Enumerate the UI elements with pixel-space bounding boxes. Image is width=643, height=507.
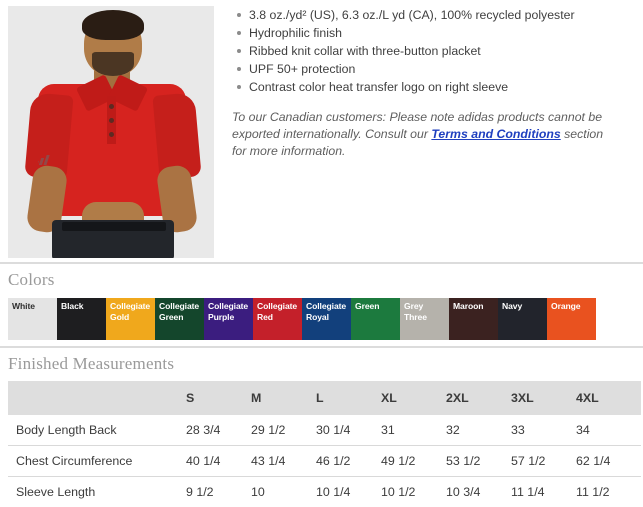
color-swatch-label: Maroon [453, 301, 497, 312]
cell-value: 33 [511, 415, 576, 446]
model-hair [82, 10, 144, 40]
feature-list: 3.8 oz./yd² (US), 6.3 oz./L yd (CA), 100… [230, 6, 637, 96]
feature-item: Ribbed knit collar with three-button pla… [230, 42, 637, 60]
cell-value: 43 1/4 [251, 446, 316, 477]
feature-item: Contrast color heat transfer logo on rig… [230, 78, 637, 96]
color-swatch-label: Collegiate Green [159, 301, 203, 322]
color-swatch-orange[interactable]: Orange [547, 298, 596, 340]
canadian-customers-note: To our Canadian customers: Please note a… [230, 109, 614, 160]
terms-and-conditions-link[interactable]: Terms and Conditions [431, 127, 560, 141]
color-swatch-collegiate-gold[interactable]: Collegiate Gold [106, 298, 155, 340]
color-swatch-label: Grey Three [404, 301, 448, 322]
color-swatch-label: Collegiate Royal [306, 301, 350, 322]
color-swatch-maroon[interactable]: Maroon [449, 298, 498, 340]
color-swatch-label: Black [61, 301, 105, 312]
color-swatch-black[interactable]: Black [57, 298, 106, 340]
column-header-measurement [8, 381, 186, 415]
feature-item: Hydrophilic finish [230, 24, 637, 42]
cell-value: 29 1/2 [251, 415, 316, 446]
polo-button [109, 132, 114, 137]
cell-value: 57 1/2 [511, 446, 576, 477]
measurements-table-head: S M L XL 2XL 3XL 4XL [8, 381, 641, 415]
polo-button [109, 104, 114, 109]
color-swatch-collegiate-purple[interactable]: Collegiate Purple [204, 298, 253, 340]
table-row: Chest Circumference 40 1/4 43 1/4 46 1/2… [8, 446, 641, 477]
cell-value: 49 1/2 [381, 446, 446, 477]
model-beard [92, 52, 134, 76]
measurements-table-body: Body Length Back 28 3/4 29 1/2 30 1/4 31… [8, 415, 641, 507]
color-swatch-label: White [12, 301, 56, 312]
measurements-heading: Finished Measurements [0, 348, 643, 374]
color-swatch-label: Navy [502, 301, 546, 312]
cell-value: 28 3/4 [186, 415, 251, 446]
feature-item: 3.8 oz./yd² (US), 6.3 oz./L yd (CA), 100… [230, 6, 637, 24]
cell-value: 32 [446, 415, 511, 446]
table-row: Body Length Back 28 3/4 29 1/2 30 1/4 31… [8, 415, 641, 446]
row-label: Body Length Back [8, 415, 186, 446]
cell-value: 30 1/4 [316, 415, 381, 446]
measurements-table: S M L XL 2XL 3XL 4XL Body Length Back 28… [8, 381, 641, 507]
color-swatch-collegiate-green[interactable]: Collegiate Green [155, 298, 204, 340]
table-header-row: S M L XL 2XL 3XL 4XL [8, 381, 641, 415]
colors-section: Colors White Black Collegiate Gold Colle… [0, 264, 643, 340]
color-swatch-label: Collegiate Purple [208, 301, 252, 322]
feature-item: UPF 50+ protection [230, 60, 637, 78]
column-header-xl: XL [381, 381, 446, 415]
row-label: Chest Circumference [8, 446, 186, 477]
product-photo[interactable] [8, 6, 214, 258]
color-swatch-navy[interactable]: Navy [498, 298, 547, 340]
column-header-m: M [251, 381, 316, 415]
color-swatch-collegiate-red[interactable]: Collegiate Red [253, 298, 302, 340]
polo-button [109, 118, 114, 123]
colors-heading: Colors [0, 264, 643, 290]
color-swatch-label: Orange [551, 301, 595, 312]
cell-value: 40 1/4 [186, 446, 251, 477]
finished-measurements-section: Finished Measurements S M L XL 2XL 3XL 4… [0, 348, 643, 507]
column-header-s: S [186, 381, 251, 415]
cell-value: 53 1/2 [446, 446, 511, 477]
product-image-container[interactable] [0, 0, 222, 262]
color-swatch-white[interactable]: White [8, 298, 57, 340]
cell-value: 62 1/4 [576, 446, 641, 477]
column-header-4xl: 4XL [576, 381, 641, 415]
color-swatch-collegiate-royal[interactable]: Collegiate Royal [302, 298, 351, 340]
column-header-2xl: 2XL [446, 381, 511, 415]
color-swatch-grey-three[interactable]: Grey Three [400, 298, 449, 340]
column-header-3xl: 3XL [511, 381, 576, 415]
product-overview: 3.8 oz./yd² (US), 6.3 oz./L yd (CA), 100… [0, 0, 643, 262]
cell-value: 31 [381, 415, 446, 446]
color-swatch-label: Collegiate Red [257, 301, 301, 322]
color-swatch-label: Collegiate Gold [110, 301, 154, 322]
color-swatch-green[interactable]: Green [351, 298, 400, 340]
adidas-logo-icon [38, 154, 51, 165]
color-swatch-label: Green [355, 301, 399, 312]
color-swatch-row: White Black Collegiate Gold Collegiate G… [8, 298, 546, 340]
cell-value: 46 1/2 [316, 446, 381, 477]
model-belt [62, 222, 166, 231]
product-features: 3.8 oz./yd² (US), 6.3 oz./L yd (CA), 100… [222, 0, 643, 172]
cell-value: 34 [576, 415, 641, 446]
column-header-l: L [316, 381, 381, 415]
